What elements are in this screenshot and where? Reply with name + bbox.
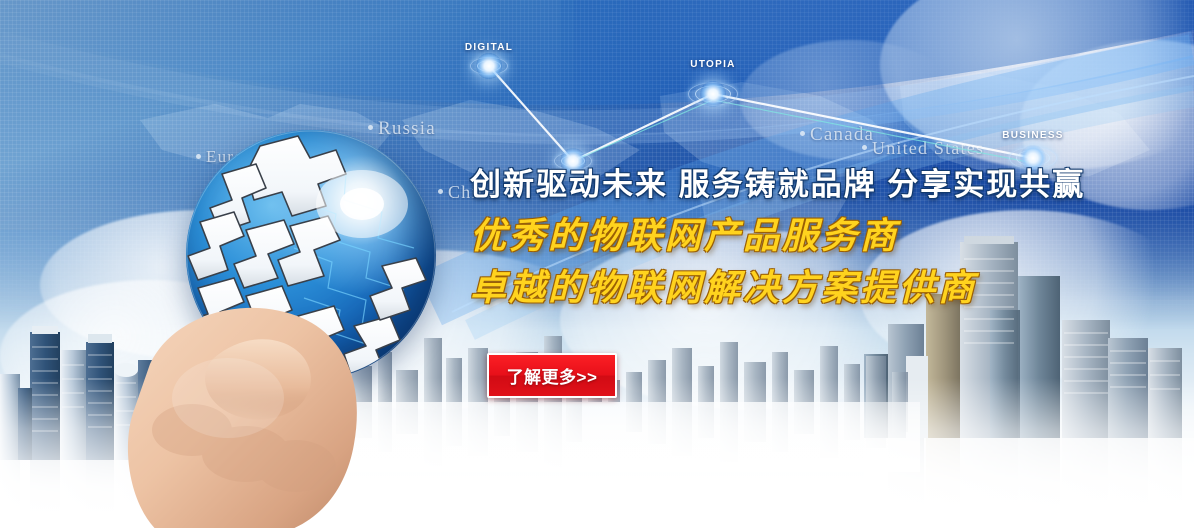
network-node-label-business: BUSINESS xyxy=(1002,130,1064,141)
headline-line-3: 卓越的物联网解决方案提供商 xyxy=(470,270,1090,308)
network-node-utopia[interactable] xyxy=(684,65,742,123)
hand-holding-globe xyxy=(96,248,426,528)
network-node-label-utopia: UTOPIA xyxy=(690,59,735,70)
node-core-glow-icon xyxy=(476,53,502,79)
node-core-glow-icon xyxy=(700,81,726,107)
learn-more-button-label: 了解更多>> xyxy=(507,363,598,388)
headline-line-2: 优秀的物联网产品服务商 xyxy=(470,218,1090,256)
hero-banner: Europe Russia China Canada United States… xyxy=(0,0,1194,528)
headline-line-1: 创新驱动未来 服务铸就品牌 分享实现共赢 xyxy=(470,168,1090,202)
headline-block: 创新驱动未来 服务铸就品牌 分享实现共赢 优秀的物联网产品服务商 卓越的物联网解… xyxy=(470,168,1090,308)
network-node-label-digital: DIGITAL xyxy=(465,42,513,53)
learn-more-button[interactable]: 了解更多>> xyxy=(487,353,617,398)
